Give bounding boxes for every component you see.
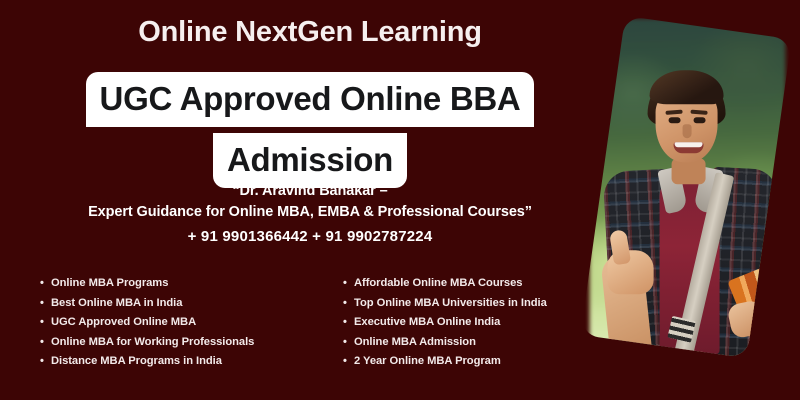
nose — [683, 124, 692, 138]
student-photo — [580, 16, 791, 358]
subtitle-line-2: Expert Guidance for Online MBA, EMBA & P… — [0, 202, 620, 223]
headline-block: UGC Approved Online BBA Admission — [0, 72, 620, 196]
subtitle-line-1: “Dr. Aravind Banakar – — [0, 181, 620, 202]
phone-numbers[interactable]: + 91 9901366442 + 91 9902787224 — [0, 225, 620, 249]
keyword-label: Executive MBA Online India — [354, 316, 500, 328]
keyword-label: Online MBA Programs — [51, 277, 168, 289]
student-photo-content — [590, 18, 786, 358]
bullet-icon: • — [343, 352, 347, 372]
bullet-icon: • — [40, 352, 44, 372]
keyword-item: • Top Online MBA Universities in India — [343, 294, 620, 314]
keyword-column-left: • Online MBA Programs • Best Online MBA … — [0, 274, 310, 372]
bullet-icon: • — [40, 294, 44, 314]
keyword-item: • Online MBA for Working Professionals — [40, 333, 310, 353]
bullet-icon: • — [40, 333, 44, 353]
eye-right — [694, 117, 706, 123]
eye-left — [669, 117, 681, 123]
teeth — [675, 142, 703, 147]
keyword-item: • Online MBA Programs — [40, 274, 310, 294]
keyword-label: Affordable Online MBA Courses — [354, 277, 522, 289]
keyword-label: UGC Approved Online MBA — [51, 316, 196, 328]
keyword-item: • Online MBA Admission — [343, 333, 620, 353]
keyword-item: • Executive MBA Online India — [343, 313, 620, 333]
keyword-item: • 2 Year Online MBA Program — [343, 352, 620, 372]
keyword-columns: • Online MBA Programs • Best Online MBA … — [0, 274, 620, 372]
headline-line-1: UGC Approved Online BBA — [86, 72, 535, 127]
bullet-icon: • — [40, 313, 44, 333]
keyword-label: Distance MBA Programs in India — [51, 355, 222, 367]
promo-banner: Online NextGen Learning UGC Approved Onl… — [0, 0, 800, 400]
keyword-label: 2 Year Online MBA Program — [354, 355, 501, 367]
keyword-label: Best Online MBA in India — [51, 297, 182, 309]
bullet-icon: • — [343, 333, 347, 353]
keyword-item: • Distance MBA Programs in India — [40, 352, 310, 372]
keyword-label: Top Online MBA Universities in India — [354, 297, 547, 309]
subtitle-block: “Dr. Aravind Banakar – Expert Guidance f… — [0, 181, 620, 249]
bullet-icon: • — [343, 274, 347, 294]
keyword-item: • Best Online MBA in India — [40, 294, 310, 314]
keyword-label: Online MBA for Working Professionals — [51, 336, 254, 348]
keyword-column-right: • Affordable Online MBA Courses • Top On… — [310, 274, 620, 372]
headline-line-2: Admission — [213, 133, 407, 188]
bullet-icon: • — [343, 313, 347, 333]
bullet-icon: • — [343, 294, 347, 314]
keyword-label: Online MBA Admission — [354, 336, 476, 348]
keyword-item: • UGC Approved Online MBA — [40, 313, 310, 333]
bullet-icon: • — [40, 274, 44, 294]
keyword-item: • Affordable Online MBA Courses — [343, 274, 620, 294]
brand-title: Online NextGen Learning — [0, 14, 620, 50]
